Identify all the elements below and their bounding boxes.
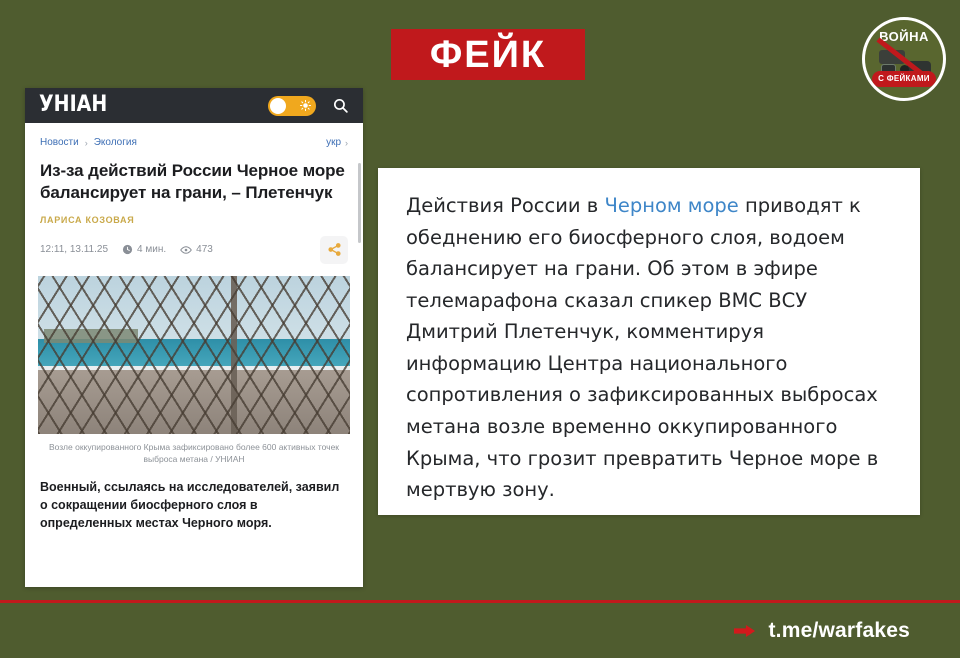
language-switch-label: укр xyxy=(326,137,341,148)
clock-icon xyxy=(122,244,133,255)
article-photo xyxy=(38,276,350,434)
site-topbar: У Н І А Н xyxy=(25,88,363,123)
article-lead: Военный, ссылаясь на исследователей, зая… xyxy=(25,466,363,532)
poster-canvas: ФЕЙК ВОЙНА С ФЕЙКАМИ У Н І А Н xyxy=(0,0,960,658)
toggle-knob xyxy=(270,98,286,114)
eye-icon xyxy=(180,244,192,256)
share-icon xyxy=(327,242,342,257)
chevron-right-icon: › xyxy=(345,138,348,148)
quote-part-2: приводят к обеднению его биосферного сло… xyxy=(406,194,878,501)
warfakes-logo-badge: ВОЙНА С ФЕЙКАМИ xyxy=(862,17,946,101)
footer: t.me/warfakes xyxy=(0,603,960,658)
unian-logo-letter: Н xyxy=(54,94,69,116)
telegram-handle[interactable]: t.me/warfakes xyxy=(768,619,910,643)
unian-logo-letter: У xyxy=(39,94,53,116)
logo-bottom-label: С ФЕЙКАМИ xyxy=(878,75,930,83)
publish-timestamp: 12:11, 13.11.25 xyxy=(40,244,108,255)
fake-banner: ФЕЙК xyxy=(391,29,585,80)
view-count-label: 473 xyxy=(196,244,213,255)
breadcrumb: Новости › Экология укр › xyxy=(25,123,363,148)
topbar-controls xyxy=(268,96,349,116)
news-article-card: У Н І А Н xyxy=(25,88,363,587)
language-switch[interactable]: укр › xyxy=(326,137,348,148)
breadcrumb-item-news[interactable]: Новости xyxy=(40,137,79,148)
unian-logo[interactable]: У Н І А Н xyxy=(39,97,106,114)
photo-chainlink-fence xyxy=(38,276,350,434)
sun-icon xyxy=(300,100,311,111)
article-meta: 12:11, 13.11.25 4 мин. xyxy=(25,225,363,264)
quote-panel: Действия России в Черном море приводят к… xyxy=(378,168,920,515)
quote-text: Действия России в Черном море приводят к… xyxy=(406,190,892,506)
view-count: 473 xyxy=(180,244,213,256)
card-scrollbar[interactable] xyxy=(358,163,361,243)
breadcrumb-item-ecology[interactable]: Экология xyxy=(94,137,137,148)
quote-part-1: Действия России в xyxy=(406,194,604,217)
unian-logo-letter: Н xyxy=(91,94,106,116)
logo-bottom-band: С ФЕЙКАМИ xyxy=(872,71,936,87)
article-author[interactable]: ЛАРИСА КОЗОВАЯ xyxy=(25,204,363,225)
share-button[interactable] xyxy=(320,236,348,264)
search-icon[interactable] xyxy=(332,97,349,114)
right-arrow-icon xyxy=(734,623,756,639)
unian-logo-letter: А xyxy=(77,94,91,116)
unian-logo-letter: І xyxy=(70,94,76,116)
breadcrumb-separator-icon: › xyxy=(85,138,88,148)
article-body: Новости › Экология укр › Из-за действий … xyxy=(25,123,363,587)
quote-link-black-sea[interactable]: Черном море xyxy=(604,194,738,217)
read-time: 4 мин. xyxy=(122,244,166,255)
photo-caption: Возле оккупированного Крыма зафиксирован… xyxy=(25,434,363,467)
theme-toggle[interactable] xyxy=(268,96,316,116)
read-time-label: 4 мин. xyxy=(137,244,166,255)
fake-banner-label: ФЕЙК xyxy=(430,36,546,74)
article-headline: Из-за действий России Черное море баланс… xyxy=(25,148,363,204)
